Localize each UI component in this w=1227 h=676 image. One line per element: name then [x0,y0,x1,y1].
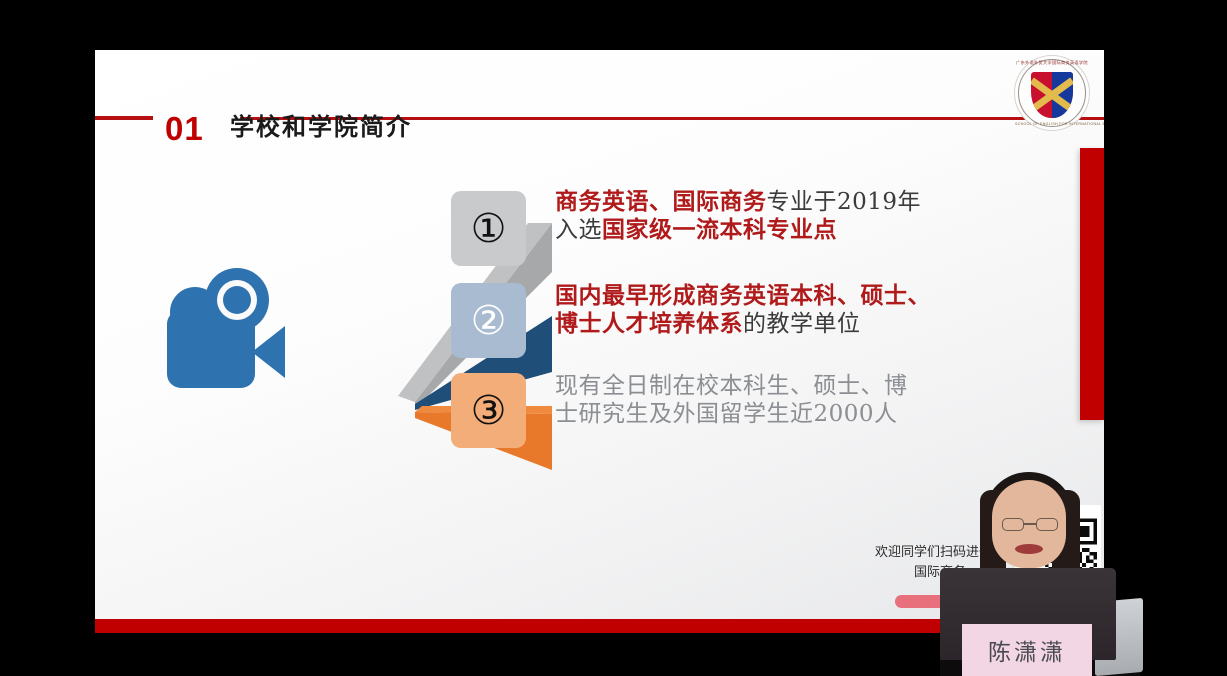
presenter-lips [1015,544,1043,554]
list-item-text-1: 商务英语、国际商务专业于2019年 入选国家级一流本科专业点 [555,188,995,244]
list-item-badge-2: ② [451,283,526,358]
camera-reel-large [205,268,269,332]
presenter-name-card: 陈潇潇 [962,624,1092,676]
presenter-name: 陈潇潇 [988,633,1066,667]
list-item-badge-3: ③ [451,373,526,448]
item2-plain-1: 的教学单位 [743,311,861,337]
badge-number-3: ③ [471,391,507,431]
badge-number-1: ① [471,209,507,249]
camera-lens-cone [252,326,285,378]
list-item-2-line-2: 博士人才培养体系的教学单位 [555,310,995,338]
item2-emphasis-2: 博士人才培养体系 [555,310,743,337]
badge-number-2: ② [471,301,507,341]
list-item-text-3: 现有全日制在校本科生、硕士、博 士研究生及外国留学生近2000人 [555,372,995,428]
item3-plain-1: 现有全日制在校本科生、硕士、博 [555,373,908,399]
presenter-video: HONOR 陈潇潇 [940,472,1140,676]
glasses-bridge [1024,523,1036,525]
item2-emphasis-1: 国内最早形成商务英语本科、硕士、 [555,282,931,309]
item1-emphasis-1: 商务英语、国际商务 [555,188,767,215]
list-item-1-line-1: 商务英语、国际商务专业于2019年 [555,188,995,216]
film-camera-icon [167,268,287,393]
section-number: 01 [165,112,204,145]
list-item-3-line-1: 现有全日制在校本科生、硕士、博 [555,372,995,400]
crest-arc-top-text: 广东外语外贸大学国际商务英语学院 [1015,60,1089,66]
list-item-badge-1: ① [451,191,526,266]
crest-shield [1031,72,1073,118]
screen-root: 01 学校和学院简介 广东外语外贸大学国际商务英语学院 SCHOOL OF EN… [0,0,1227,676]
item3-plain-2: 士研究生及外国留学生近2000人 [555,401,898,427]
crest-arc-bottom-text: SCHOOL OF ENGLISH FOR INTERNATIONAL BUSI… [1015,122,1089,126]
list-item-2-line-1: 国内最早形成商务英语本科、硕士、 [555,282,995,310]
item1-plain-lead: 入选 [555,217,602,243]
university-crest-icon: 广东外语外贸大学国际商务英语学院 SCHOOL OF ENGLISH FOR I… [1014,55,1090,131]
page-title: 学校和学院简介 [230,114,412,142]
list-item-1-line-2: 入选国家级一流本科专业点 [555,216,995,244]
right-accent-bar [1080,148,1104,420]
glasses-lens-left [1002,518,1024,531]
list-item-text-2: 国内最早形成商务英语本科、硕士、 博士人才培养体系的教学单位 [555,282,995,338]
presenter-glasses [1002,518,1058,531]
list-item-3-line-2: 士研究生及外国留学生近2000人 [555,400,995,428]
header-rule-short [95,116,153,120]
item1-plain-1: 专业于2019年 [767,189,922,215]
crest-center-dot [1048,91,1057,100]
item1-emphasis-2: 国家级一流本科专业点 [602,216,837,243]
glasses-lens-right [1036,518,1058,531]
